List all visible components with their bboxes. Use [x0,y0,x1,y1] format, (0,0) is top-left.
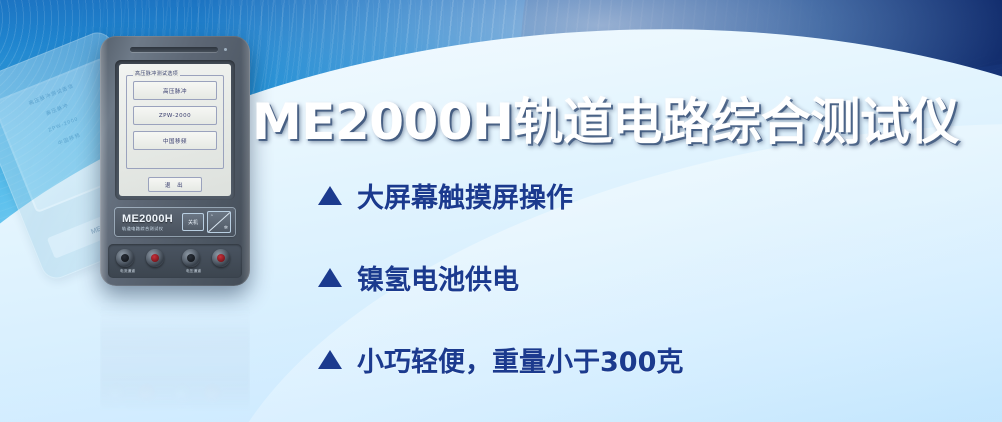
triangle-up-icon [318,350,342,369]
device-indicator-led [224,48,227,51]
device-jack-voltage-black[interactable] [182,249,200,267]
gear-icon: ✲ [224,225,228,231]
banner-headline: ME2000H轨道电路综合测试仪 [252,82,959,154]
product-device-image: 高压脉冲测试选项 高压脉冲 ZPW-2000 中国移频 退 出 ME2000H … [100,36,250,286]
product-banner: 高压脉冲测试选项 高压脉冲 ZPW-2000 中国移频 ME2000H 电流通道… [0,0,1002,422]
reflection-jack-2 [138,385,155,402]
device-screen-option-group: 高压脉冲测试选项 高压脉冲 ZPW-2000 中国移频 [126,75,224,169]
reflection-jack-label-voltage: 电压通道 [178,405,192,410]
device-jack-label-current: 电流通道 [120,269,135,274]
reflection-jack-1 [108,385,125,402]
device-jack-current-black[interactable] [116,249,134,267]
triangle-up-icon [318,186,342,205]
device-brand-block: ME2000H 轨道电路综合测试仪 [115,213,182,232]
device-brand-subtitle: 轨道电路综合测试仪 [122,225,182,232]
reflection-jack-3 [174,385,191,402]
device-screen-button-china-fsk[interactable]: 中国移频 [133,131,217,150]
device-screen-button-hv-pulse[interactable]: 高压脉冲 [133,81,217,100]
device-jack-current-red[interactable] [146,249,164,267]
device-screen-exit-button[interactable]: 退 出 [148,177,202,192]
device-mode-button[interactable]: ◔ ✲ [207,211,231,233]
device-brand-name: ME2000H [122,213,182,225]
device-jack-panel: 电流通道 电压通道 [108,244,242,278]
feature-item-3-label: 小巧轻便，重量小于300克 [357,340,683,379]
feature-item-2-label: 镍氢电池供电 [357,258,519,297]
triangle-up-icon [318,268,342,287]
device-screen-group-title: 高压脉冲测试选项 [133,70,180,77]
device-jack-label-voltage: 电压通道 [186,269,201,274]
reflection-jack-4 [204,385,221,402]
device-power-button[interactable]: 关机 [182,213,204,231]
device-speaker-slot [130,47,218,52]
device-left-edge-highlight [100,36,108,286]
device-jack-voltage-red[interactable] [212,249,230,267]
feature-item-1: 大屏幕触摸屏操作 [318,176,683,215]
device-screen-button-zpw2000[interactable]: ZPW-2000 [133,106,217,125]
device-right-edge-highlight [241,36,250,286]
feature-item-3: 小巧轻便，重量小于300克 [318,340,683,379]
feature-item-1-label: 大屏幕触摸屏操作 [357,176,573,215]
device-reflection: 电流通道 电压通道 [100,292,250,412]
feature-item-2: 镍氢电池供电 [318,258,683,297]
device-screen: 高压脉冲测试选项 高压脉冲 ZPW-2000 中国移频 退 出 [119,64,231,196]
device-faceplate: ME2000H 轨道电路综合测试仪 关机 ◔ ✲ [115,208,235,236]
feature-list: 大屏幕触摸屏操作 镍氢电池供电 小巧轻便，重量小于300克 [318,176,683,422]
clock-icon: ◔ [210,213,213,219]
reflection-jack-label-current: 电流通道 [112,405,126,410]
